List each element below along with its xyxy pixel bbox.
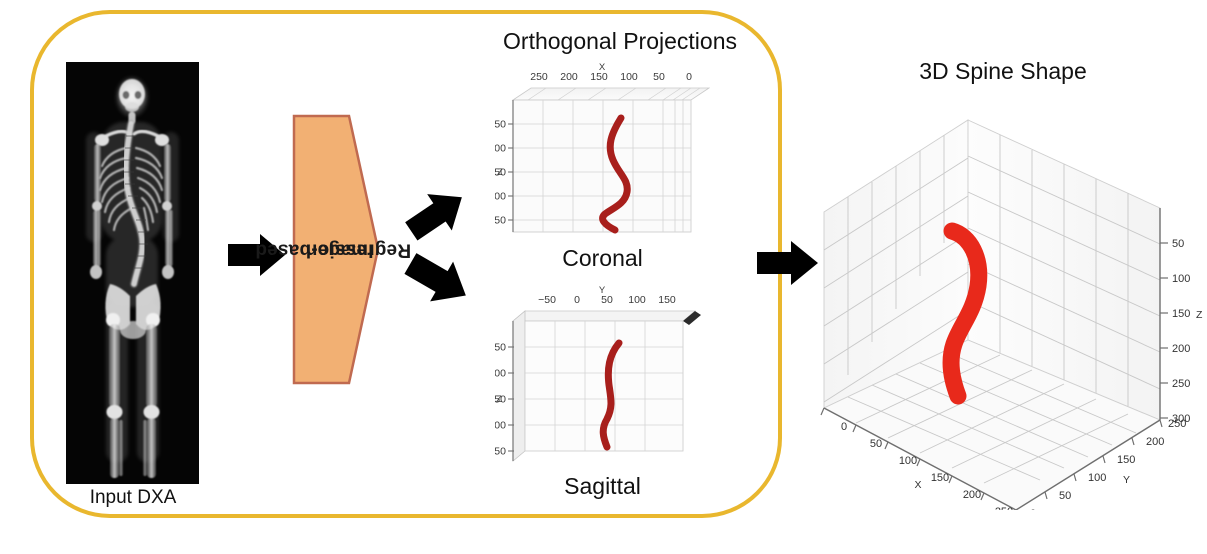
spine3d-ytick-150: 150	[1117, 454, 1135, 466]
input-dxa-image	[66, 62, 199, 484]
spine3d-xtick-200: 200	[963, 489, 981, 501]
coronal-xtick-0: 0	[686, 71, 692, 83]
spine3d-ztick-200: 200	[1172, 343, 1190, 355]
arrow-projections-to-3d	[757, 238, 819, 288]
coronal-xtick-100: 100	[620, 71, 638, 83]
sagittal-ytick-neg50: −50	[538, 294, 556, 306]
regression-block-label: Image-based Regression	[291, 113, 381, 386]
spine3d-xtick-100: 100	[899, 455, 917, 467]
sagittal-ztick-50: 50	[495, 342, 506, 354]
spine3d-ztick-250: 250	[1172, 378, 1190, 390]
spine3d-ytick-0: 0	[1030, 508, 1036, 510]
coronal-xtick-50: 50	[653, 71, 665, 83]
coronal-ztick-100: 100	[495, 143, 506, 155]
spine3d-ztick-100: 100	[1172, 273, 1190, 285]
coronal-ztick-250: 250	[495, 215, 506, 227]
arrow-model-to-coronal	[404, 186, 470, 242]
spine3d-xtick-0: 0	[841, 421, 847, 433]
coronal-z-axis-label: Z	[497, 167, 503, 178]
sagittal-y-axis-label: Y	[599, 285, 606, 296]
spine3d-ytick-100: 100	[1088, 472, 1106, 484]
sagittal-ytick-0: 0	[574, 294, 580, 306]
sagittal-ztick-200: 200	[495, 420, 506, 432]
coronal-xtick-200: 200	[560, 71, 578, 83]
spine3d-ytick-250: 250	[1168, 418, 1186, 430]
spine3d-ztick-150: 150	[1172, 308, 1190, 320]
sagittal-z-axis-label: Z	[496, 394, 502, 405]
coronal-x-axis-label: X	[599, 62, 606, 73]
spine3d-xtick-250: 250	[995, 506, 1013, 510]
input-dxa-caption: Input DXA	[60, 487, 206, 509]
dxa-scan-graphic	[66, 62, 199, 484]
coronal-projection-plot: 50 100 150 200 250 Z 250 200 150 100 50 …	[495, 62, 710, 247]
sagittal-ztick-100: 100	[495, 368, 506, 380]
sagittal-ytick-100: 100	[628, 294, 646, 306]
spine3d-ytick-200: 200	[1146, 436, 1164, 448]
coronal-xtick-250: 250	[530, 71, 548, 83]
coronal-caption: Coronal	[495, 245, 710, 272]
spine-3d-plot: 50 100 150 200 250 300 Z 0 50 100 150 20…	[820, 90, 1207, 510]
spine3d-ytick-50: 50	[1059, 490, 1071, 502]
sagittal-caption: Sagittal	[495, 473, 710, 500]
orthogonal-projections-title: Orthogonal Projections	[470, 28, 770, 55]
spine3d-z-axis-label: Z	[1196, 309, 1203, 321]
spine-3d-title: 3D Spine Shape	[838, 58, 1168, 85]
regression-label-line2: Regression	[299, 239, 417, 261]
sagittal-projection-plot: 50 100 150 200 250 Z −50 0 50 100 150 Y	[495, 285, 710, 475]
sagittal-ytick-150: 150	[658, 294, 676, 306]
spine3d-y-axis-label: Y	[1123, 474, 1130, 486]
spine3d-ztick-50: 50	[1172, 238, 1184, 250]
arrow-model-to-sagittal	[404, 250, 474, 310]
sagittal-ztick-250: 250	[495, 446, 506, 458]
spine3d-xtick-150: 150	[931, 472, 949, 484]
coronal-ztick-200: 200	[495, 191, 506, 203]
spine3d-x-axis-label: X	[914, 479, 921, 491]
spine3d-xtick-50: 50	[870, 438, 882, 450]
coronal-ztick-50: 50	[495, 119, 506, 131]
